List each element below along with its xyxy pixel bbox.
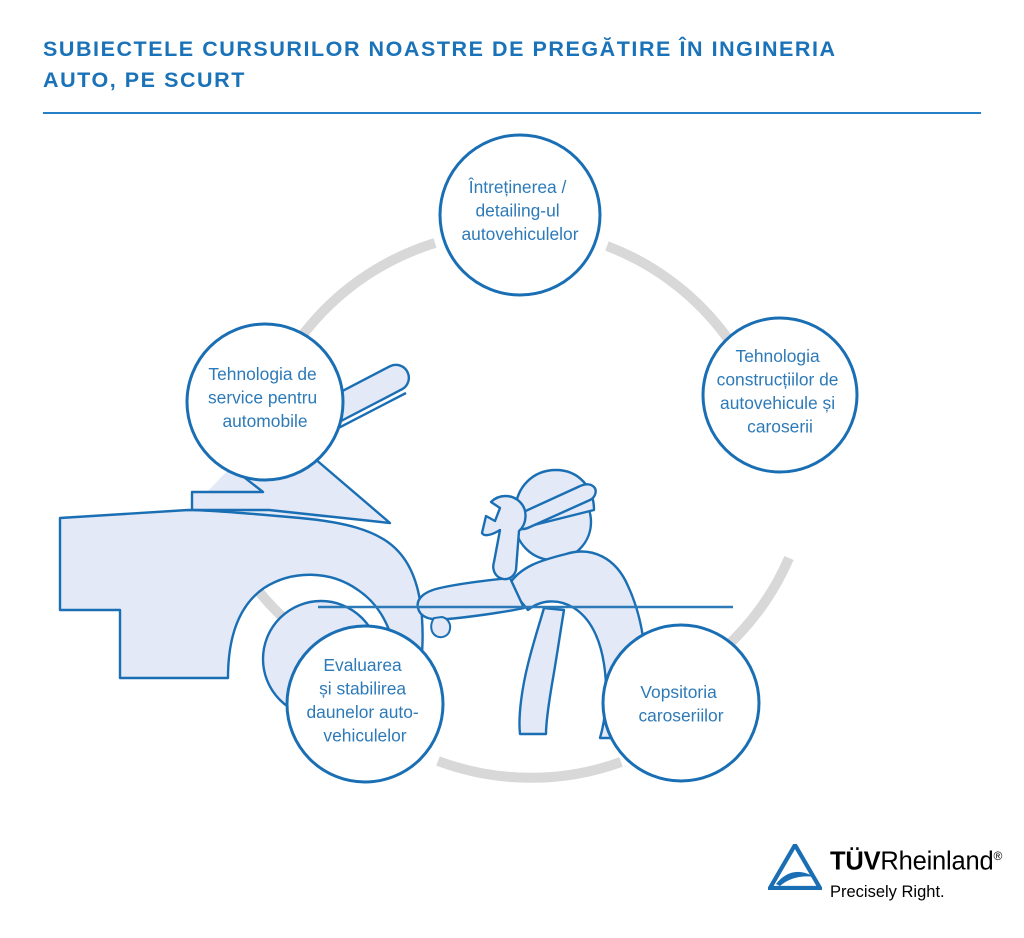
node-br-line-2: caroseriilor bbox=[638, 706, 723, 726]
tuv-triangle-icon bbox=[768, 844, 822, 890]
node-left-line-1: Tehnologia de bbox=[208, 364, 316, 384]
mechanic-leg-back bbox=[519, 608, 564, 734]
node-right-line-1: Tehnologia bbox=[736, 346, 820, 366]
cycle-diagram: Întreținerea / detailing-ul autovehicule… bbox=[0, 118, 1024, 818]
tuv-rheinland-logo: TÜVRheinland® Precisely Right. bbox=[768, 842, 998, 904]
logo-brand-regular: Rheinland bbox=[880, 848, 993, 876]
node-right-line-4: caroserii bbox=[747, 417, 813, 437]
logo-brand-line: TÜVRheinland® bbox=[830, 842, 1000, 876]
logo-wordmark: TÜVRheinland® Precisely Right. bbox=[830, 842, 1000, 902]
node-top-line-3: autovehiculelor bbox=[462, 224, 579, 244]
node-top-line-1: Întreținerea / bbox=[468, 177, 567, 197]
node-top[interactable]: Întreținerea / detailing-ul autovehicule… bbox=[440, 135, 600, 295]
node-bl-line-3: daunelor auto- bbox=[307, 702, 419, 722]
page-title: SUBIECTELE CURSURILOR NOASTRE DE PREGĂTI… bbox=[43, 34, 943, 96]
node-br-line-1: Vopsitoria bbox=[640, 682, 717, 702]
logo-tagline: Precisely Right. bbox=[830, 882, 1000, 902]
node-bottom-left[interactable]: Evaluarea și stabilirea daunelor auto- v… bbox=[287, 626, 443, 782]
node-bl-line-4: vehiculelor bbox=[323, 726, 406, 746]
node-bl-line-2: și stabilirea bbox=[319, 679, 406, 699]
node-left-line-3: automobile bbox=[222, 411, 307, 431]
mechanic-hand bbox=[431, 617, 450, 637]
mechanic-arm bbox=[418, 578, 524, 620]
node-bottom-right-circle[interactable] bbox=[603, 625, 759, 781]
wrench-icon bbox=[482, 496, 526, 579]
node-left-label: Tehnologia de service pentru automobile bbox=[208, 364, 322, 431]
logo-registered-mark: ® bbox=[993, 849, 1002, 863]
node-top-line-2: detailing-ul bbox=[476, 201, 560, 221]
infographic-page: SUBIECTELE CURSURILOR NOASTRE DE PREGĂTI… bbox=[0, 0, 1024, 938]
node-left[interactable]: Tehnologia de service pentru automobile bbox=[187, 324, 343, 480]
logo-brand-bold: TÜV bbox=[830, 848, 880, 876]
node-bottom-right[interactable]: Vopsitoria caroseriilor bbox=[603, 625, 759, 781]
node-right-line-2: construcțiilor de bbox=[717, 370, 839, 390]
node-right[interactable]: Tehnologia construcțiilor de autovehicul… bbox=[703, 318, 857, 472]
node-left-line-2: service pentru bbox=[208, 388, 317, 408]
node-top-label: Întreținerea / detailing-ul autovehicule… bbox=[462, 177, 579, 244]
header: SUBIECTELE CURSURILOR NOASTRE DE PREGĂTI… bbox=[43, 34, 943, 96]
node-bl-line-1: Evaluarea bbox=[323, 655, 402, 675]
header-divider bbox=[43, 112, 981, 114]
node-right-line-3: autovehicule și bbox=[720, 393, 835, 413]
